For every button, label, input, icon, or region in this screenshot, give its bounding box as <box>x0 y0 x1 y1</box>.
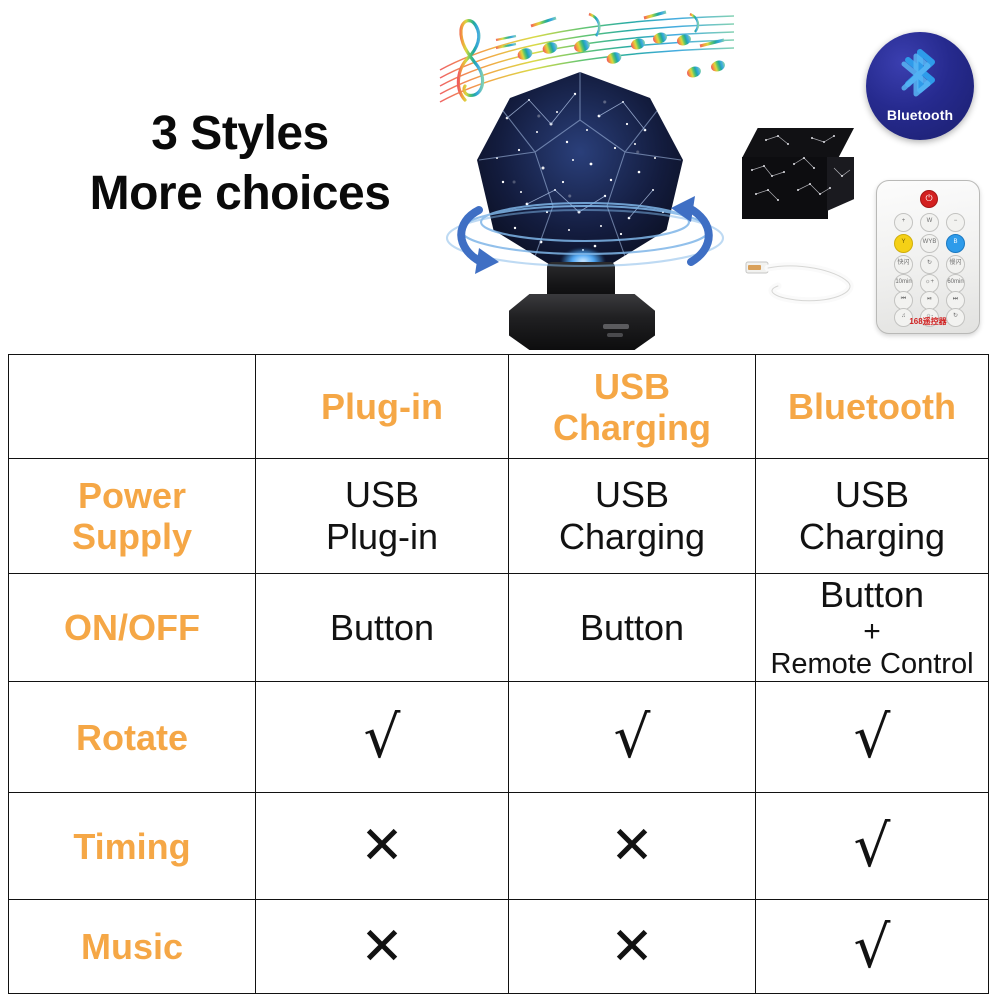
cell-timing-usb: ✕ <box>509 793 756 900</box>
row-label-rotate: Rotate <box>9 682 256 793</box>
remote-rotate-key: ↻ <box>920 255 939 274</box>
cross-icon: ✕ <box>610 816 654 876</box>
cell-power-bluetooth: USB Charging <box>756 459 989 574</box>
cell-rotate-bluetooth: √ <box>756 682 989 793</box>
header-usb-line2: Charging <box>513 407 751 448</box>
table-row-onoff: ON/OFF Button Button Button + Remote Con… <box>9 574 989 682</box>
onoff-label: ON/OFF <box>64 607 200 648</box>
power-supply-line2: Supply <box>13 516 251 557</box>
remote-plus-key: + <box>894 213 913 232</box>
remote-yellow-key: Y <box>894 234 913 253</box>
rotation-arrows-icon <box>435 182 735 292</box>
remote-fast-flash-key: 快闪 <box>894 255 913 274</box>
headline-line-2: More choices <box>40 164 440 224</box>
cell-music-plugin: ✕ <box>256 900 509 994</box>
header-plugin-label: Plug-in <box>321 386 443 427</box>
cell-music-usb: ✕ <box>509 900 756 994</box>
cell-onoff-usb: Button <box>509 574 756 682</box>
bluetooth-badge: Bluetooth <box>866 32 974 140</box>
rotate-label: Rotate <box>76 717 188 758</box>
cell-power-usb-line2: Charging <box>513 516 751 558</box>
cell-music-bluetooth: √ <box>756 900 989 994</box>
cell-power-plugin: USB Plug-in <box>256 459 509 574</box>
cell-power-plugin-line2: Plug-in <box>260 516 504 558</box>
cell-power-bt-line2: Charging <box>760 516 984 558</box>
cross-icon: ✕ <box>360 816 404 876</box>
feature-comparison-table: Plug-in USB Charging Bluetooth Power Sup… <box>8 354 989 994</box>
table-header-row: Plug-in USB Charging Bluetooth <box>9 355 989 459</box>
table-row-rotate: Rotate √ √ √ <box>9 682 989 793</box>
remote-power-key: ⏻ <box>920 190 938 208</box>
remote-model-label: 168遥控器 <box>877 316 979 327</box>
remote-blue-key: B <box>946 234 965 253</box>
check-icon: √ <box>614 703 651 771</box>
header-usb-line1: USB <box>513 366 751 407</box>
infographic-root: 3 Styles More choices <box>0 0 1000 1000</box>
star-projector-lamp <box>455 72 705 350</box>
remote-w-key: W <box>920 213 939 232</box>
header-cell-empty <box>9 355 256 459</box>
header-cell-plugin: Plug-in <box>256 355 509 459</box>
projector-port-secondary <box>607 333 623 337</box>
remote-wyb-key: WYB <box>920 234 939 253</box>
cell-power-bt-line1: USB <box>760 474 984 516</box>
header-cell-usb-charging: USB Charging <box>509 355 756 459</box>
cell-power-usb: USB Charging <box>509 459 756 574</box>
cell-onoff-plugin-text: Button <box>330 607 434 648</box>
table-row-power-supply: Power Supply USB Plug-in USB Charging US… <box>9 459 989 574</box>
usb-cable-graphic <box>744 248 862 310</box>
cell-onoff-bt-line3: Remote Control <box>760 648 984 681</box>
timing-label: Timing <box>73 826 190 867</box>
check-icon: √ <box>364 703 401 771</box>
projector-base <box>509 294 655 350</box>
power-supply-line1: Power <box>13 475 251 516</box>
page-headline: 3 Styles More choices <box>40 104 440 224</box>
table-row-music: Music ✕ ✕ √ <box>9 900 989 994</box>
cell-timing-bluetooth: √ <box>756 793 989 900</box>
cell-onoff-bt-plus: + <box>760 616 984 648</box>
bluetooth-icon <box>890 46 950 108</box>
cell-timing-plugin: ✕ <box>256 793 509 900</box>
remote-minus-key: − <box>946 213 965 232</box>
check-icon: √ <box>854 913 891 981</box>
row-label-onoff: ON/OFF <box>9 574 256 682</box>
hero-product-banner: 3 Styles More choices <box>0 0 1000 354</box>
row-label-power-supply: Power Supply <box>9 459 256 574</box>
table-row-timing: Timing ✕ ✕ √ <box>9 793 989 900</box>
remote-slow-flash-key: 慢闪 <box>946 255 965 274</box>
check-icon: √ <box>854 812 891 880</box>
header-bluetooth-label: Bluetooth <box>788 386 956 427</box>
cell-rotate-usb: √ <box>509 682 756 793</box>
bluetooth-badge-label: Bluetooth <box>866 107 974 123</box>
cell-onoff-bt-line1: Button <box>760 574 984 616</box>
projector-port <box>603 324 629 329</box>
cell-onoff-plugin: Button <box>256 574 509 682</box>
row-label-music: Music <box>9 900 256 994</box>
cell-onoff-bluetooth: Button + Remote Control <box>756 574 989 682</box>
headline-line-1: 3 Styles <box>40 104 440 164</box>
cross-icon: ✕ <box>610 917 654 977</box>
remote-control: ⏻ + W − Y WYB B 快闪 ↻ 慢闪 10min ☼+ 60min ⏮… <box>876 180 980 334</box>
product-gift-box <box>742 128 854 220</box>
constellation-pattern <box>742 128 854 220</box>
cell-power-usb-line1: USB <box>513 474 751 516</box>
cell-power-plugin-line1: USB <box>260 474 504 516</box>
header-cell-bluetooth: Bluetooth <box>756 355 989 459</box>
cell-onoff-usb-text: Button <box>580 607 684 648</box>
cross-icon: ✕ <box>360 917 404 977</box>
cell-rotate-plugin: √ <box>256 682 509 793</box>
row-label-timing: Timing <box>9 793 256 900</box>
music-label: Music <box>81 926 183 967</box>
check-icon: √ <box>854 703 891 771</box>
